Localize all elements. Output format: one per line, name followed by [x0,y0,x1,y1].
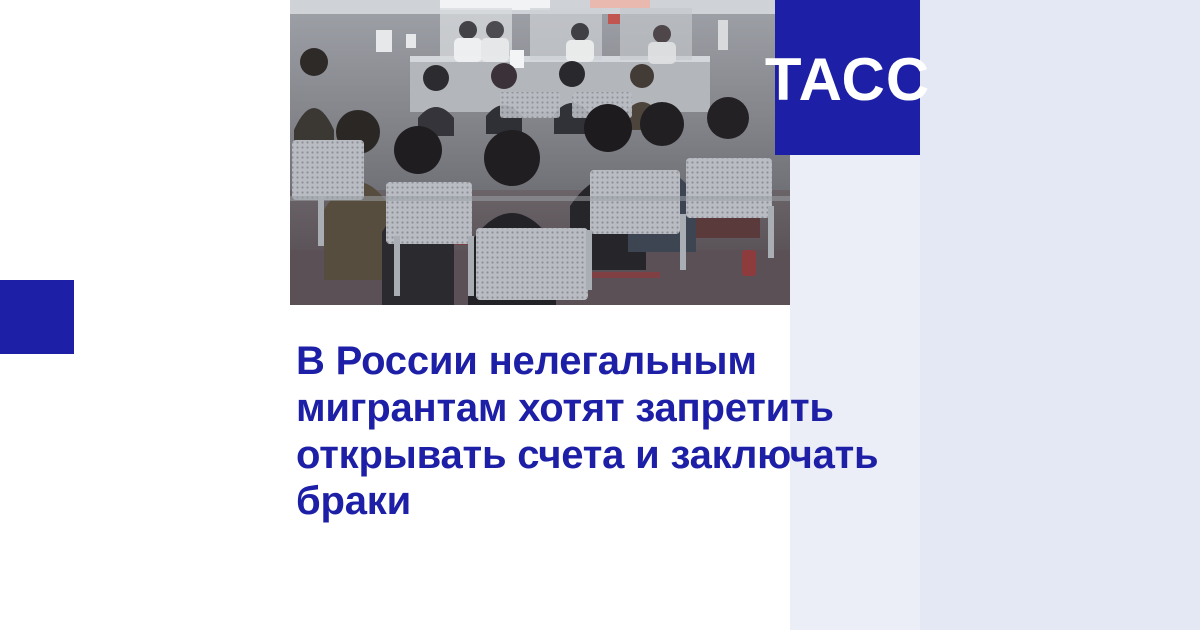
tass-logo[interactable]: ТАСС [775,0,920,155]
hero-photo [290,0,790,305]
news-card: ТАСС В России нелегальным мигрантам хотя… [0,0,1200,630]
tass-logo-text: ТАСС [765,50,930,110]
hero-photo-illustration [290,0,790,305]
background-right-inner-panel [920,0,1200,630]
headline-text: В России нелегальным мигрантам хотят зап… [296,338,896,525]
accent-square [0,280,74,354]
